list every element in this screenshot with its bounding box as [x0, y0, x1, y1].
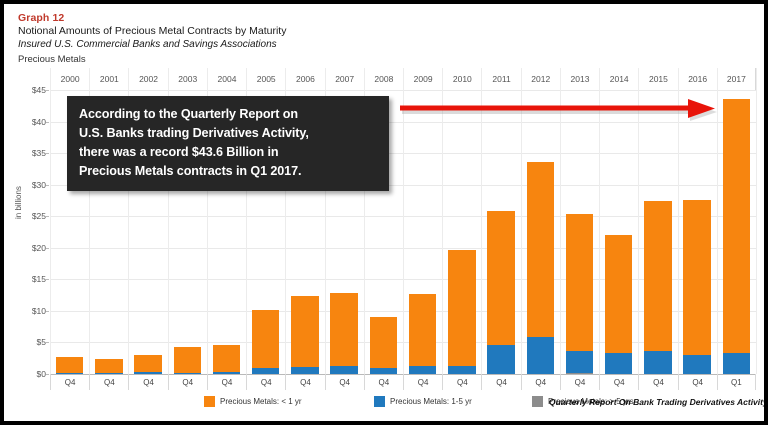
- bar-segment-1-5yr: [683, 355, 710, 374]
- quarter-label-2005: Q4: [246, 374, 285, 390]
- bar-segment-under-1yr: [683, 200, 710, 355]
- legend-item-1[interactable]: Precious Metals: 1-5 yr: [374, 396, 472, 407]
- source-note: Quarterly Report On Bank Trading Derivat…: [549, 397, 764, 407]
- bar-segment-1-5yr: [291, 367, 318, 374]
- quarter-label-2017: Q1: [717, 374, 756, 390]
- callout-line-3: there was a record $43.6 Billion in: [79, 143, 377, 162]
- legend-label: Precious Metals: < 1 yr: [220, 397, 302, 406]
- bar-segment-under-1yr: [370, 317, 397, 368]
- y-tick-35: $35: [32, 148, 46, 158]
- y-tick-mark-35: [46, 153, 49, 154]
- bar-2017: [723, 99, 750, 374]
- y-tick-40: $40: [32, 117, 46, 127]
- quarter-label-2004: Q4: [207, 374, 246, 390]
- bar-segment-1-5yr: [605, 353, 632, 374]
- quarter-label-2003: Q4: [168, 374, 207, 390]
- bar-2007: [330, 293, 357, 374]
- bar-2011: [487, 211, 514, 374]
- quarter-label-2007: Q4: [325, 374, 364, 390]
- bar-segment-under-1yr: [213, 345, 240, 373]
- y-tick-0: $0: [37, 369, 46, 379]
- chart-header: Graph 12 Notional Amounts of Precious Me…: [18, 12, 286, 51]
- y-tick-mark-15: [46, 279, 49, 280]
- bar-2003: [174, 347, 201, 374]
- bar-2002: [134, 355, 161, 374]
- bar-segment-under-1yr: [56, 357, 83, 373]
- column-separator: [756, 68, 757, 374]
- chart-title: Notional Amounts of Precious Metal Contr…: [18, 25, 286, 38]
- quarter-label-2015: Q4: [638, 374, 677, 390]
- quarter-label-2002: Q4: [128, 374, 167, 390]
- quarter-label-2001: Q4: [89, 374, 128, 390]
- quarter-axis: Q4Q4Q4Q4Q4Q4Q4Q4Q4Q4Q4Q4Q4Q4Q4Q4Q4Q1: [50, 374, 756, 390]
- y-tick-15: $15: [32, 274, 46, 284]
- annotation-arrow: [400, 99, 718, 121]
- bar-2016: [683, 200, 710, 374]
- legend-swatch-icon: [204, 396, 215, 407]
- y-tick-20: $20: [32, 243, 46, 253]
- legend-swatch-icon: [532, 396, 543, 407]
- bar-2010: [448, 250, 475, 374]
- legend: Precious Metals: < 1 yrPrecious Metals: …: [4, 396, 764, 414]
- bar-segment-1-5yr: [723, 353, 750, 374]
- legend-swatch-icon: [374, 396, 385, 407]
- bar-segment-under-1yr: [448, 250, 475, 365]
- legend-label: Precious Metals: 1-5 yr: [390, 397, 472, 406]
- bar-segment-under-1yr: [134, 355, 161, 372]
- y-tick-mark-5: [46, 342, 49, 343]
- bar-segment-under-1yr: [291, 296, 318, 367]
- quarter-label-2014: Q4: [599, 374, 638, 390]
- quarter-label-2013: Q4: [560, 374, 599, 390]
- callout-line-1: According to the Quarterly Report on: [79, 105, 377, 124]
- y-tick-45: $45: [32, 85, 46, 95]
- callout-line-4: Precious Metals contracts in Q1 2017.: [79, 162, 377, 181]
- bar-2000: [56, 357, 83, 374]
- bar-2008: [370, 317, 397, 374]
- bar-segment-1-5yr: [487, 345, 514, 374]
- quarter-label-2000: Q4: [50, 374, 89, 390]
- quarter-label-2008: Q4: [364, 374, 403, 390]
- bar-segment-1-5yr: [566, 351, 593, 372]
- quarter-label-2009: Q4: [403, 374, 442, 390]
- y-tick-30: $30: [32, 180, 46, 190]
- y-tick-mark-40: [46, 122, 49, 123]
- bar-segment-under-1yr: [252, 310, 279, 368]
- bar-segment-1-5yr: [527, 337, 554, 374]
- quarter-label-2012: Q4: [521, 374, 560, 390]
- y-axis-label: in billions: [14, 186, 23, 219]
- graph-number: Graph 12: [18, 12, 286, 24]
- quarter-label-2010: Q4: [442, 374, 481, 390]
- bar-segment-under-1yr: [95, 359, 122, 373]
- bar-2014: [605, 235, 632, 374]
- bar-2009: [409, 294, 436, 374]
- bar-2013: [566, 214, 593, 374]
- bar-segment-under-1yr: [527, 162, 554, 337]
- bar-segment-1-5yr: [409, 366, 436, 374]
- bar-segment-1-5yr: [644, 351, 671, 374]
- y-tick-mark-10: [46, 311, 49, 312]
- bar-segment-under-1yr: [174, 347, 201, 373]
- bar-segment-1-5yr: [448, 366, 475, 374]
- y-tick-mark-25: [46, 216, 49, 217]
- chart-subtitle: Insured U.S. Commercial Banks and Saving…: [18, 38, 286, 51]
- callout-line-2: U.S. Banks trading Derivatives Activity,: [79, 124, 377, 143]
- bar-segment-under-1yr: [409, 294, 436, 367]
- bar-2006: [291, 296, 318, 374]
- quarter-label-2011: Q4: [481, 374, 520, 390]
- series-group-label: Precious Metals: [18, 54, 86, 65]
- y-tick-mark-0: [46, 374, 49, 375]
- bar-2005: [252, 310, 279, 374]
- bar-2015: [644, 201, 671, 374]
- bar-segment-under-1yr: [644, 201, 671, 351]
- y-tick-mark-20: [46, 248, 49, 249]
- bar-segment-under-1yr: [566, 214, 593, 352]
- quarter-label-2016: Q4: [678, 374, 717, 390]
- bar-segment-under-1yr: [723, 99, 750, 353]
- bar-2004: [213, 345, 240, 374]
- legend-item-0[interactable]: Precious Metals: < 1 yr: [204, 396, 302, 407]
- bar-segment-under-1yr: [487, 211, 514, 345]
- bar-2001: [95, 359, 122, 374]
- y-tick-10: $10: [32, 306, 46, 316]
- quarter-label-2006: Q4: [285, 374, 324, 390]
- y-tick-25: $25: [32, 211, 46, 221]
- y-tick-mark-45: [46, 90, 49, 91]
- y-tick-mark-30: [46, 185, 49, 186]
- bar-segment-1-5yr: [330, 366, 357, 374]
- y-tick-5: $5: [37, 337, 46, 347]
- bar-segment-under-1yr: [330, 293, 357, 366]
- chart-card: Graph 12 Notional Amounts of Precious Me…: [4, 4, 764, 421]
- bar-2012: [527, 162, 554, 374]
- bar-segment-under-1yr: [605, 235, 632, 354]
- annotation-callout: According to the Quarterly Report on U.S…: [67, 96, 389, 191]
